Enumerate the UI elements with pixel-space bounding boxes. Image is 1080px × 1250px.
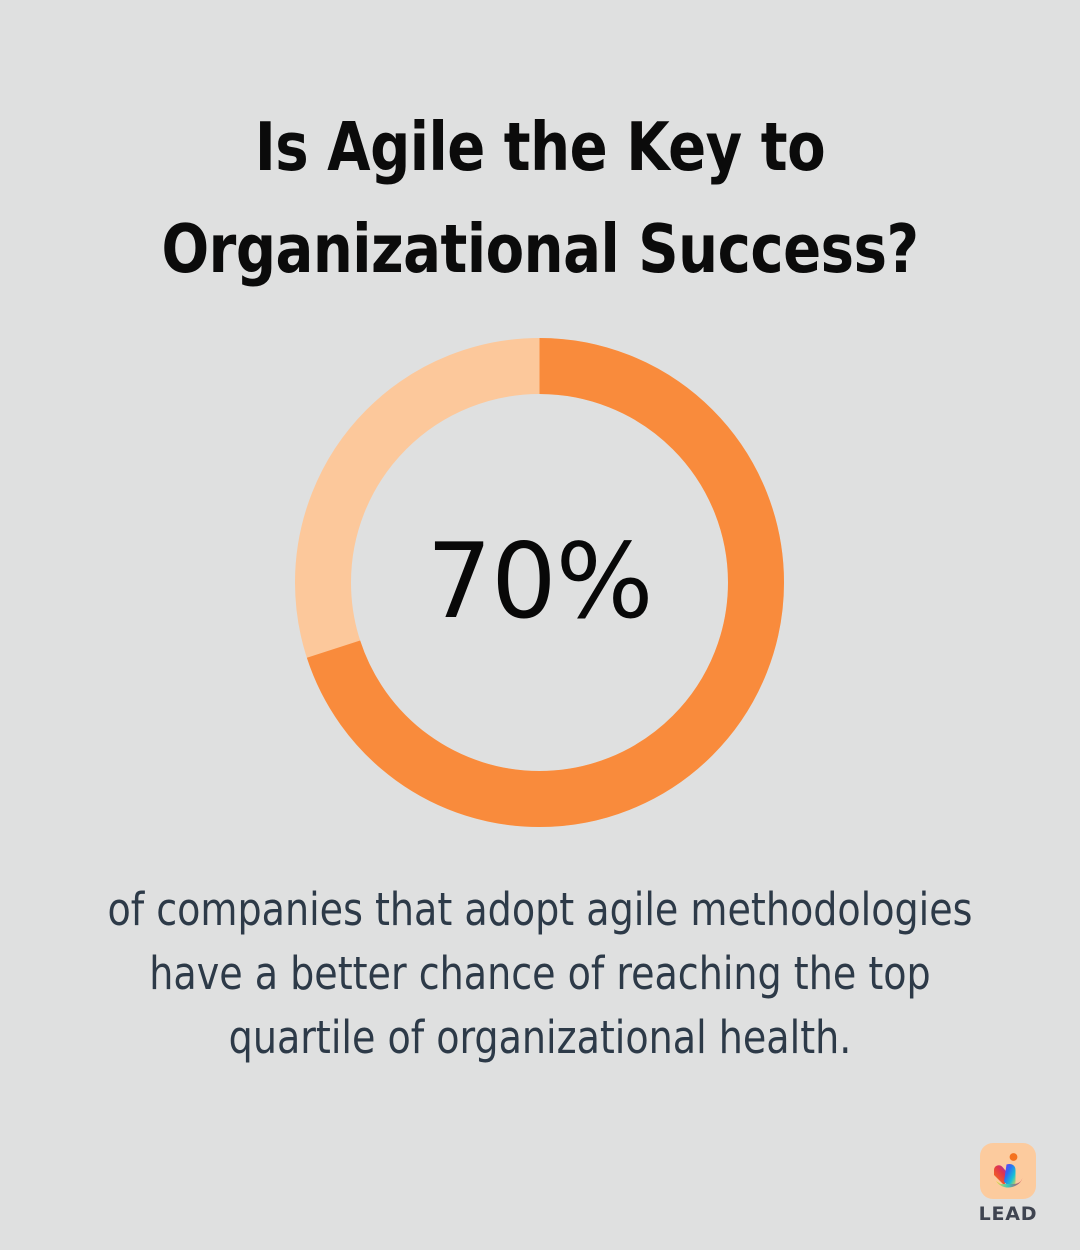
infographic-canvas: Is Agile the Key to Organizational Succe… — [0, 0, 1080, 1250]
page-title-line-2: Organizational Success? — [94, 198, 987, 300]
brand-wordmark: LEAD — [979, 1205, 1038, 1224]
donut-chart-svg — [295, 338, 784, 827]
brand-logo: LEAD — [962, 1143, 1054, 1224]
lead-ribbon-i-icon-svg — [980, 1143, 1036, 1199]
body-copy-line-1: of companies that adopt agile methodolog… — [74, 878, 1006, 942]
donut-chart: 70% — [295, 338, 784, 827]
lead-ribbon-i-icon — [980, 1143, 1036, 1199]
page-title: Is Agile the Key to Organizational Succe… — [0, 96, 1080, 300]
body-copy-line-2: have a better chance of reaching the top — [74, 942, 1006, 1006]
body-copy-line-3: quartile of organizational health. — [74, 1006, 1006, 1070]
body-copy: of companies that adopt agile methodolog… — [0, 878, 1080, 1070]
page-title-line-1: Is Agile the Key to — [94, 96, 987, 198]
